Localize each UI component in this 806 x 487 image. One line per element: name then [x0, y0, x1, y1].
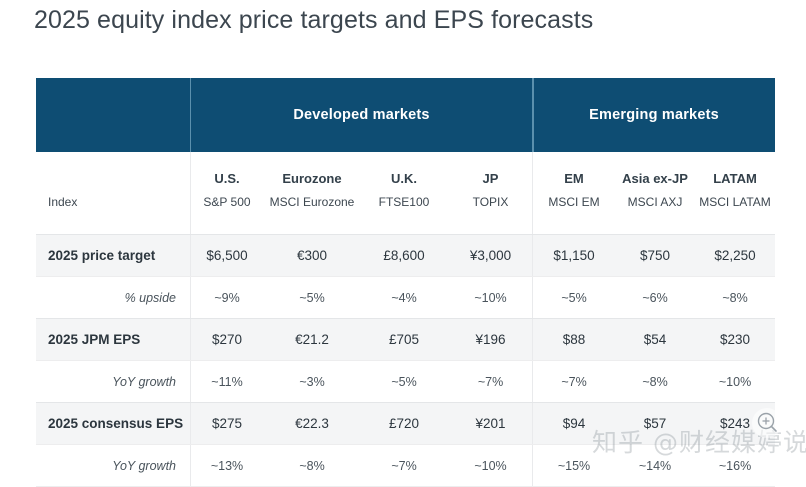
cell-value: $88 [533, 319, 615, 361]
index-row-label: Index [36, 189, 190, 235]
cell-value: $270 [190, 319, 264, 361]
cell-value: $6,500 [190, 235, 264, 277]
table-row: YoY growth ~11% ~3% ~5% ~7% ~7% ~8% ~10% [36, 361, 775, 403]
cell-value: ¥196 [448, 319, 533, 361]
region-header-em: EM [533, 152, 615, 189]
cell-value: $2,250 [695, 235, 775, 277]
region-header-jp: JP [448, 152, 533, 189]
cell-value: ~7% [533, 361, 615, 403]
cell-value: $57 [615, 403, 695, 445]
index-header-sp500: S&P 500 [190, 189, 264, 235]
cell-value: ~4% [360, 277, 448, 319]
cell-value: ~10% [448, 277, 533, 319]
row-label: YoY growth [36, 445, 190, 487]
cell-value: ~8% [615, 361, 695, 403]
index-header-row: Index S&P 500 MSCI Eurozone FTSE100 TOPI… [36, 189, 775, 235]
cell-value: $243 [695, 403, 775, 445]
region-header-latam: LATAM [695, 152, 775, 189]
region-header-eurozone: Eurozone [264, 152, 360, 189]
cell-value: ~7% [448, 361, 533, 403]
cell-value: £8,600 [360, 235, 448, 277]
group-header-developed: Developed markets [190, 78, 533, 152]
cell-value: ~9% [190, 277, 264, 319]
index-header-msci-axj: MSCI AXJ [615, 189, 695, 235]
index-header-topix: TOPIX [448, 189, 533, 235]
cell-value: ~13% [190, 445, 264, 487]
table-row: YoY growth ~13% ~8% ~7% ~10% ~15% ~14% ~… [36, 445, 775, 487]
cell-value: ~7% [360, 445, 448, 487]
cell-value: ~10% [695, 361, 775, 403]
group-header-row: Developed markets Emerging markets [36, 78, 775, 152]
cell-value: €300 [264, 235, 360, 277]
region-header-asia-ex-jp: Asia ex-JP [615, 152, 695, 189]
cell-value: ~3% [264, 361, 360, 403]
cell-value: ~6% [615, 277, 695, 319]
cell-value: ~15% [533, 445, 615, 487]
cell-value: €22.3 [264, 403, 360, 445]
row-label: % upside [36, 277, 190, 319]
table-row: 2025 price target $6,500 €300 £8,600 ¥3,… [36, 235, 775, 277]
cell-value: $1,150 [533, 235, 615, 277]
table-row: % upside ~9% ~5% ~4% ~10% ~5% ~6% ~8% [36, 277, 775, 319]
row-label: 2025 price target [36, 235, 190, 277]
cell-value: $750 [615, 235, 695, 277]
row-label: 2025 JPM EPS [36, 319, 190, 361]
cell-value: ~16% [695, 445, 775, 487]
cell-value: £705 [360, 319, 448, 361]
forecast-table: Developed markets Emerging markets U.S. … [36, 78, 775, 487]
region-header-uk: U.K. [360, 152, 448, 189]
cell-value: ~5% [533, 277, 615, 319]
cell-value: ~8% [695, 277, 775, 319]
group-header-emerging: Emerging markets [533, 78, 775, 152]
forecast-table-container: Developed markets Emerging markets U.S. … [36, 78, 775, 487]
cell-value: ~11% [190, 361, 264, 403]
cell-value: $54 [615, 319, 695, 361]
cell-value: ~10% [448, 445, 533, 487]
cell-value: £720 [360, 403, 448, 445]
table-row: 2025 JPM EPS $270 €21.2 £705 ¥196 $88 $5… [36, 319, 775, 361]
row-label: YoY growth [36, 361, 190, 403]
cell-value: €21.2 [264, 319, 360, 361]
cell-value: $275 [190, 403, 264, 445]
cell-value: ~14% [615, 445, 695, 487]
cell-value: ~8% [264, 445, 360, 487]
region-header-row: U.S. Eurozone U.K. JP EM Asia ex-JP LATA… [36, 152, 775, 189]
cell-value: ¥3,000 [448, 235, 533, 277]
cell-value: $230 [695, 319, 775, 361]
cell-value: ~5% [264, 277, 360, 319]
index-header-ftse100: FTSE100 [360, 189, 448, 235]
index-header-msci-latam: MSCI LATAM [695, 189, 775, 235]
table-row: 2025 consensus EPS $275 €22.3 £720 ¥201 … [36, 403, 775, 445]
cell-value: $94 [533, 403, 615, 445]
cell-value: ¥201 [448, 403, 533, 445]
page-title: 2025 equity index price targets and EPS … [34, 6, 593, 35]
cell-value: ~5% [360, 361, 448, 403]
region-header-us: U.S. [190, 152, 264, 189]
row-label: 2025 consensus EPS [36, 403, 190, 445]
index-header-msci-em: MSCI EM [533, 189, 615, 235]
group-header-blank [36, 78, 190, 152]
region-header-blank [36, 152, 190, 189]
index-header-msci-eurozone: MSCI Eurozone [264, 189, 360, 235]
